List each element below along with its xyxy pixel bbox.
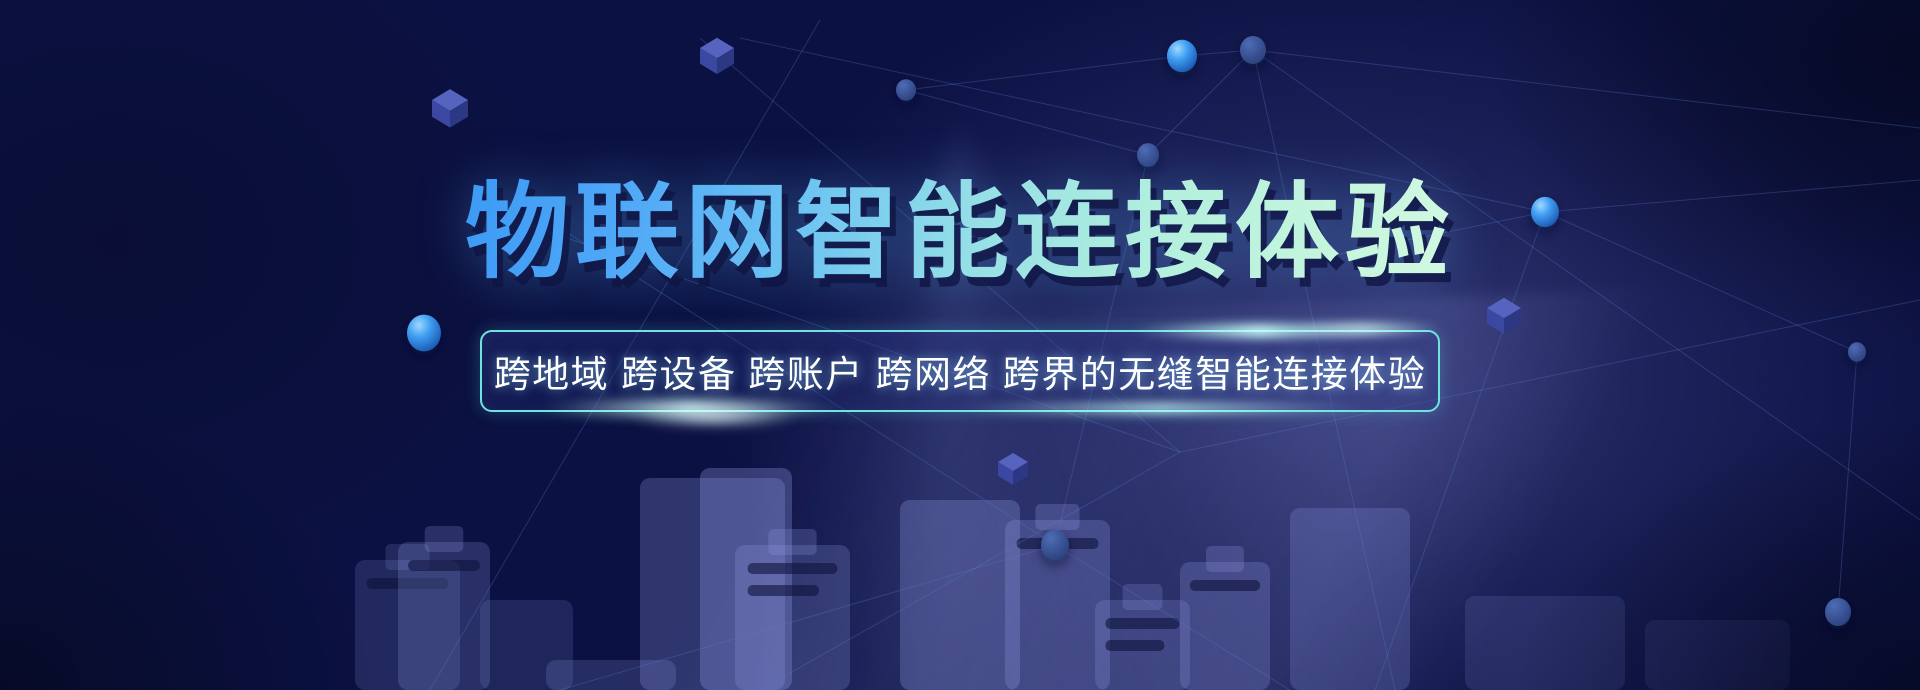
- link-4: [906, 56, 1182, 90]
- link-22: [1838, 352, 1857, 612]
- link-3: [1253, 50, 1920, 128]
- cube-right: [1487, 298, 1521, 334]
- link-10: [560, 545, 1055, 690]
- link-17: [1545, 212, 1857, 352]
- link-6: [1148, 50, 1253, 155]
- node-lower-center: [1041, 530, 1069, 560]
- link-8: [1253, 50, 1920, 520]
- cube-lower-mid: [998, 453, 1028, 485]
- node-far-right: [1848, 342, 1866, 361]
- node-left-mid: [407, 315, 441, 352]
- cube-top-mid: [700, 38, 734, 74]
- cube-left: [432, 89, 468, 127]
- link-14: [1545, 180, 1920, 212]
- node-upper-left: [896, 79, 916, 101]
- node-mid-right: [1137, 143, 1159, 167]
- link-13: [740, 38, 1545, 212]
- node-bright-top: [1167, 40, 1197, 72]
- link-16: [1330, 212, 1545, 256]
- node-right-upper: [1531, 197, 1559, 227]
- link-11: [1055, 545, 1290, 690]
- node-bottom-right: [1825, 598, 1851, 626]
- link-20: [760, 452, 1180, 690]
- subtitle-box: 跨地域 跨设备 跨账户 跨网络 跨界的无缝智能连接体验: [480, 330, 1440, 412]
- node-top-right: [1240, 36, 1266, 64]
- iot-banner: 物联网智能连接体验 跨地域 跨设备 跨账户 跨网络 跨界的无缝智能连接体验: [0, 0, 1920, 690]
- link-15: [1375, 212, 1545, 690]
- subtitle-text: 跨地域 跨设备 跨账户 跨网络 跨界的无缝智能连接体验: [494, 344, 1427, 398]
